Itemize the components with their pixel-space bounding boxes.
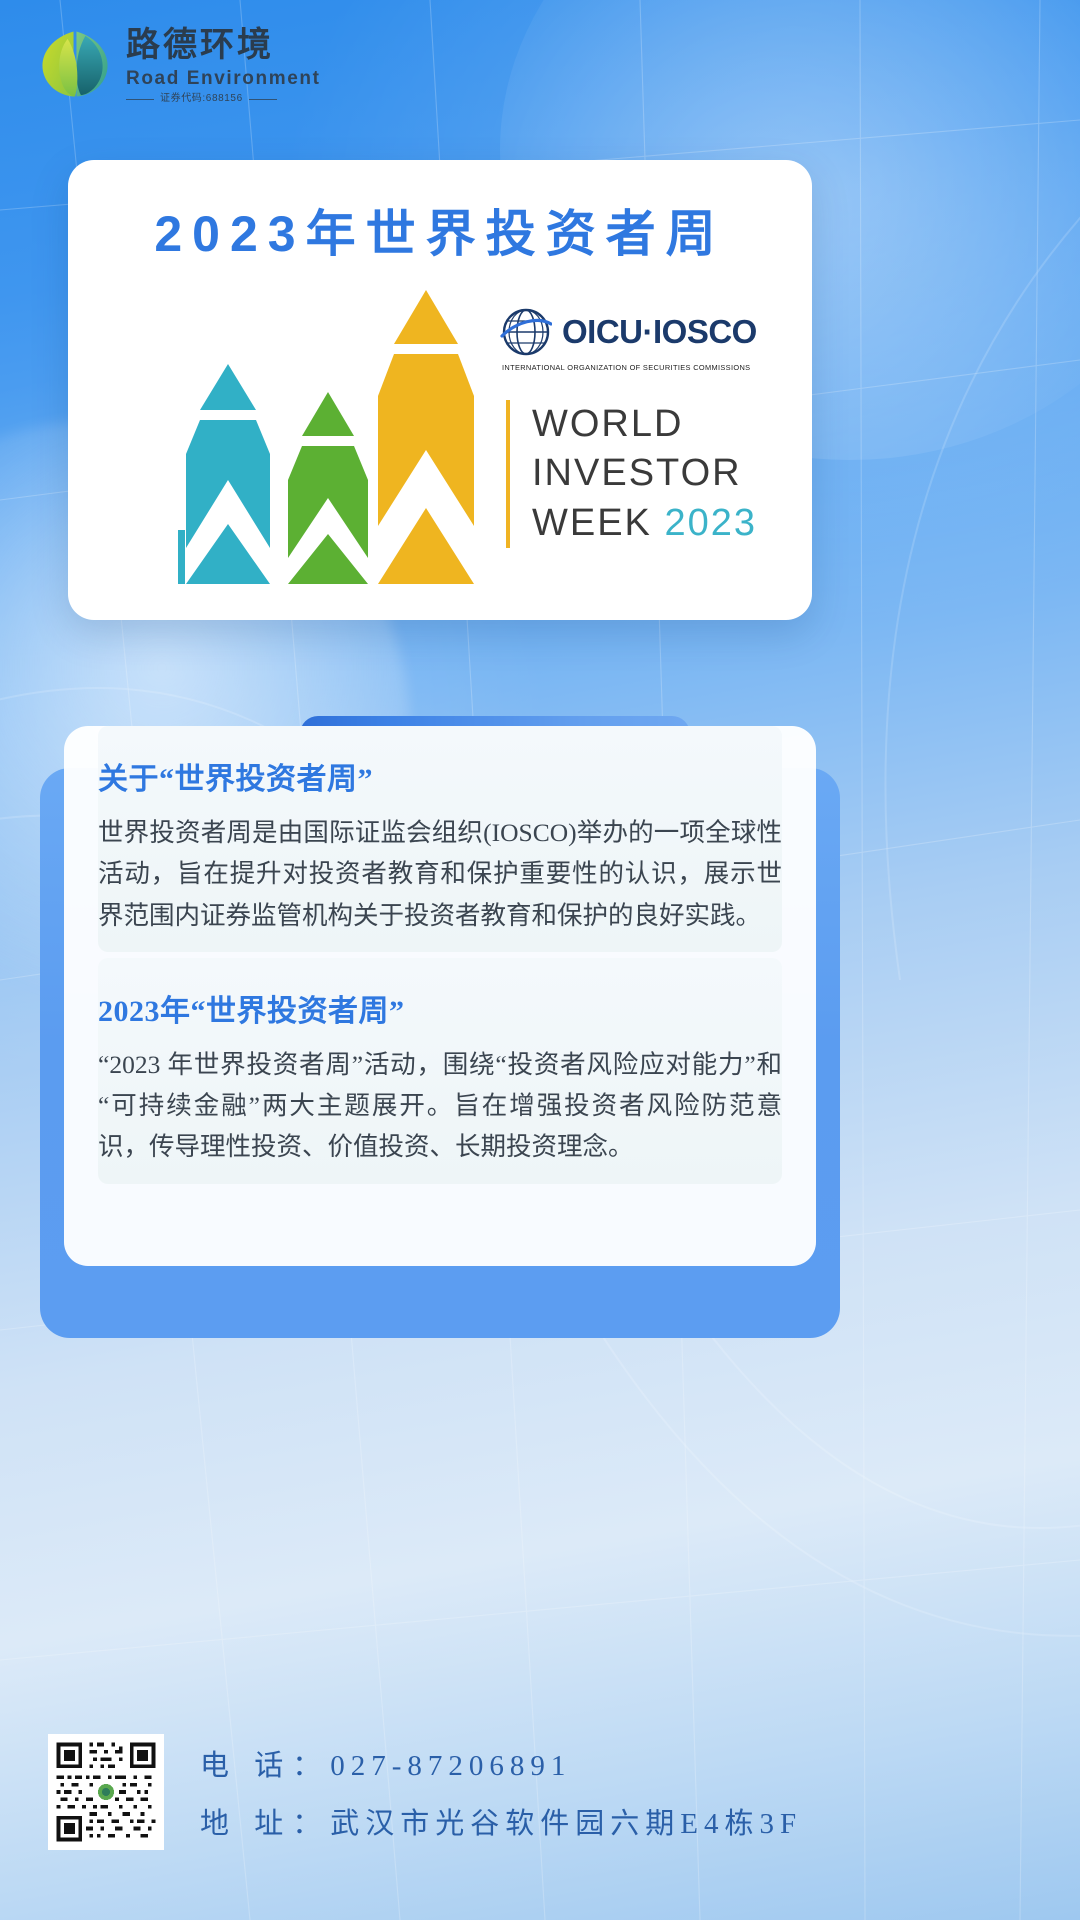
theme-section-2: 2023年“世界投资者周” “2023 年世界投资者周”活动，围绕“投资者风险应… [64,958,816,1184]
iosco-subtitle: INTERNATIONAL ORGANIZATION OF SECURITIES… [502,363,768,372]
theme-2-heading: 2023年“世界投资者周” [98,986,782,1030]
theme-1-body: 世界投资者周是由国际证监会组织(IOSCO)举办的一项全球性活动，旨在提升对投资… [98,812,782,936]
brand-header: 路德环境 Road Environment 证券代码:688156 [38,24,321,104]
world-investor-week-logo: OICU·IOSCO INTERNATIONAL ORGANIZATION OF… [68,270,812,600]
wiw-line-world: WORLD [532,400,757,449]
rule-right [249,99,277,100]
wiw-week: WEEK [532,502,652,544]
theme-section-1: 关于“世界投资者周” 世界投资者周是由国际证监会组织(IOSCO)举办的一项全球… [64,726,816,952]
brand-stock-code-row: 证券代码:688156 [126,94,321,104]
wiw-line-investor: INVESTOR [532,449,757,498]
globe-icon [500,306,552,358]
theme-2-body: “2023 年世界投资者周”活动，围绕“投资者风险应对能力”和“可持续金融”两大… [98,1044,782,1168]
brand-name-cn: 路德环境 [126,28,321,62]
contact-address-row: 地 址： 武汉市光谷软件园六期E4栋3F [200,1800,802,1842]
contact-address-label: 地 址： [200,1800,330,1842]
leaf-circle-logo-icon [38,27,112,101]
contact-phone-label: 电 话： [200,1742,330,1784]
brand-name-en: Road Environment [126,69,321,88]
page-title: 2023年世界投资者周 [68,194,812,266]
wiw-wordmark: WORLD INVESTOR WEEK 2023 [506,400,757,548]
contact-phone-value[interactable]: 027-87206891 [330,1750,571,1783]
themes-content-card: 关于“世界投资者周” 世界投资者周是由国际证监会组织(IOSCO)举办的一项全球… [64,726,816,1266]
contact-info: 电 话： 027-87206891 地 址： 武汉市光谷软件园六期E4栋3F [200,1742,802,1858]
iosco-acronym: OICU·IOSCO [562,313,757,351]
theme-1-heading: 关于“世界投资者周” [98,754,782,798]
brand-stock-code: 证券代码:688156 [160,94,243,104]
contact-phone-row: 电 话： 027-87206891 [200,1742,802,1784]
contact-address-value: 武汉市光谷软件园六期E4栋3F [330,1800,802,1842]
world-investor-week-pencils-icon [178,284,508,584]
qr-code-icon[interactable] [48,1734,164,1850]
rule-left [126,99,154,100]
wiw-year: 2023 [664,502,757,544]
qr-code-matrix [53,1739,159,1845]
wiw-line-week-year: WEEK 2023 [532,499,757,548]
hero-card: 2023年世界投资者周 [68,160,812,620]
iosco-logo: OICU·IOSCO INTERNATIONAL ORGANIZATION OF… [500,306,768,372]
themes-panel: 两大主题 关于“世界投资者周” 世界投资者周是由国际证监会组织(IOSCO)举办… [40,768,840,1338]
footer: 电 话： 027-87206891 地 址： 武汉市光谷软件园六期E4栋3F [0,1700,1080,1920]
